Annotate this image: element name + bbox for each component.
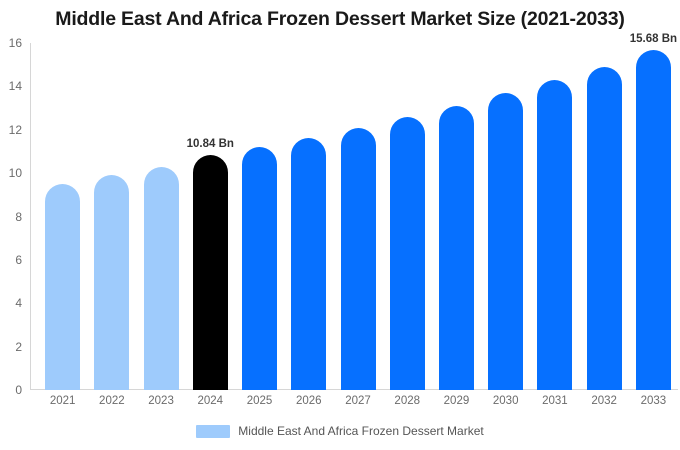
- x-axis-tick-label-2032: 2032: [591, 395, 617, 407]
- chart-title: Middle East And Africa Frozen Dessert Ma…: [0, 8, 680, 31]
- x-axis-tick-label-2023: 2023: [148, 395, 174, 407]
- y-axis-tick-label: 0: [15, 383, 22, 397]
- bar-2024[interactable]: [193, 155, 228, 390]
- y-axis-line: [30, 43, 31, 390]
- plot-area: 0246810121416: [30, 43, 678, 390]
- legend-swatch-icon: [196, 425, 230, 438]
- y-axis-tick-label: 4: [15, 296, 22, 310]
- x-axis-tick-label-2025: 2025: [247, 395, 273, 407]
- bar-value-label-2024: 10.84 Bn: [187, 138, 234, 150]
- y-axis-tick-label: 8: [15, 210, 22, 224]
- x-axis-tick-label-2029: 2029: [444, 395, 470, 407]
- bar-2025[interactable]: [242, 147, 277, 390]
- x-axis-tick-label-2028: 2028: [394, 395, 420, 407]
- x-axis-tick-label-2021: 2021: [50, 395, 76, 407]
- bar-2027[interactable]: [341, 128, 376, 390]
- y-axis-tick-label: 14: [9, 79, 22, 93]
- bar-2028[interactable]: [390, 117, 425, 390]
- bar-2033[interactable]: [636, 50, 671, 390]
- x-axis-tick-label-2026: 2026: [296, 395, 322, 407]
- y-axis-tick-label: 16: [9, 36, 22, 50]
- y-axis-tick-label: 6: [15, 253, 22, 267]
- bar-2031[interactable]: [537, 80, 572, 390]
- y-axis-tick-label: 2: [15, 340, 22, 354]
- bar-2022[interactable]: [94, 175, 129, 390]
- bar-2023[interactable]: [144, 167, 179, 390]
- bar-2032[interactable]: [587, 67, 622, 390]
- y-axis-tick-label: 10: [9, 166, 22, 180]
- bar-2029[interactable]: [439, 106, 474, 390]
- bar-2030[interactable]: [488, 93, 523, 390]
- x-axis-tick-label-2027: 2027: [345, 395, 371, 407]
- x-axis-tick-label-2031: 2031: [542, 395, 568, 407]
- chart-legend: Middle East And Africa Frozen Dessert Ma…: [0, 424, 680, 438]
- bar-2021[interactable]: [45, 184, 80, 390]
- bar-value-label-2033: 15.68 Bn: [630, 33, 677, 45]
- x-axis-tick-label-2022: 2022: [99, 395, 125, 407]
- x-axis-tick-label-2030: 2030: [493, 395, 519, 407]
- x-axis-tick-label-2033: 2033: [641, 395, 667, 407]
- bar-2026[interactable]: [291, 138, 326, 390]
- y-axis-tick-label: 12: [9, 123, 22, 137]
- x-axis-tick-label-2024: 2024: [198, 395, 224, 407]
- chart-container: Middle East And Africa Frozen Dessert Ma…: [0, 0, 680, 450]
- legend-label: Middle East And Africa Frozen Dessert Ma…: [238, 424, 483, 438]
